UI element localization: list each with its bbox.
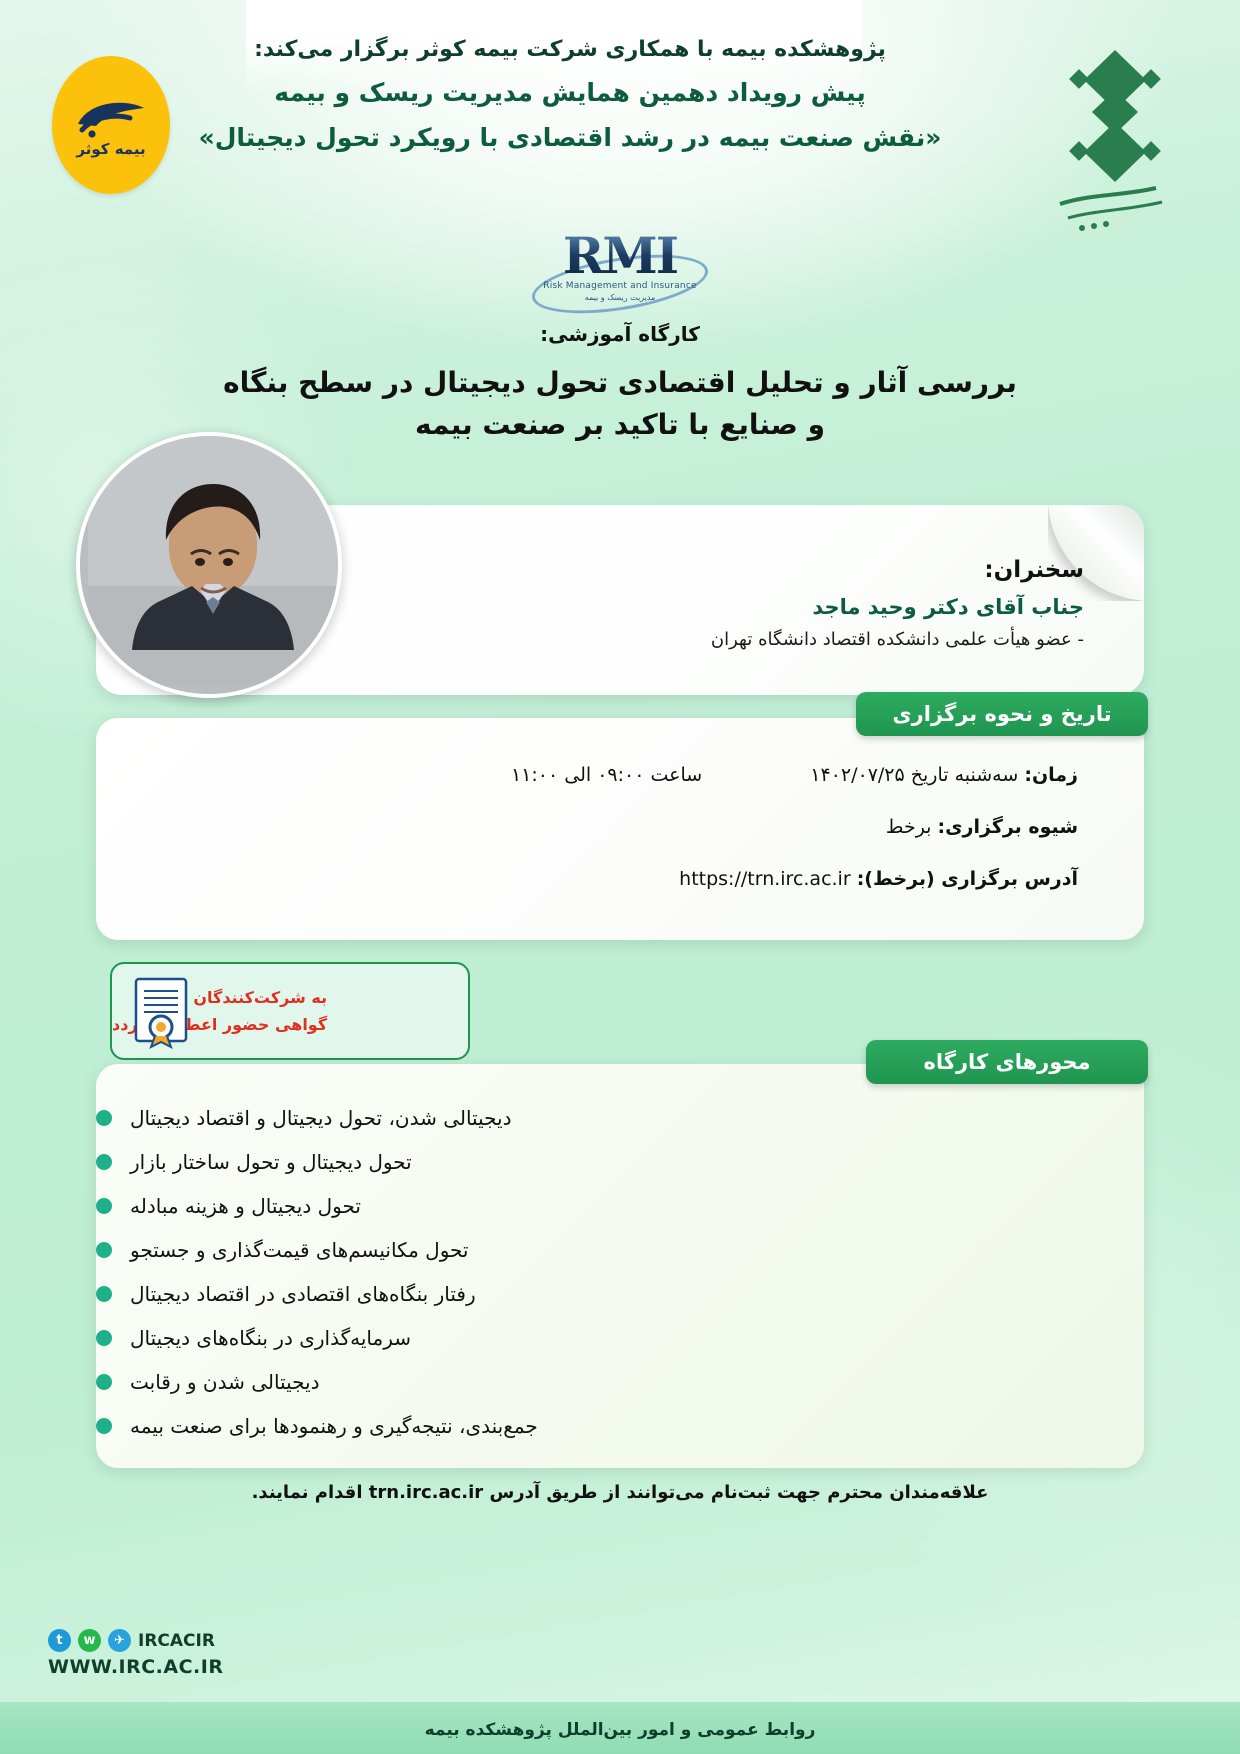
- registration-suffix: اقدام نمایند.: [252, 1482, 363, 1503]
- rmi-wordmark: RMI: [563, 232, 677, 280]
- topic-label: تحول مکانیسم‌های قیمت‌گذاری و جستجو: [130, 1238, 469, 1262]
- whatsapp-icon[interactable]: w: [78, 1629, 101, 1652]
- rmi-persian-subtitle: مدیریت ریسک و بیمه: [585, 293, 656, 302]
- mode-label: شیوه برگزاری:: [938, 816, 1078, 838]
- social-row: t w ✈ IRCACIR: [48, 1629, 223, 1652]
- topic-label: رفتار بنگاه‌های اقتصادی در اقتصاد دیجیتا…: [130, 1282, 476, 1306]
- topic-label: تحول دیجیتال و هزینه مبادله: [130, 1194, 361, 1218]
- topic-label: دیجیتالی شدن و رقابت: [130, 1370, 320, 1394]
- address-url[interactable]: https://trn.irc.ac.ir: [679, 868, 851, 890]
- topic-item: رفتار بنگاه‌های اقتصادی در اقتصاد دیجیتا…: [96, 1282, 1084, 1306]
- certificate-notice-box: به شرکت‌کنندگان گواهی حضور اعطا می‌گردد: [110, 962, 470, 1060]
- bullet-dot-icon: [96, 1286, 112, 1302]
- topic-label: جمع‌بندی، نتیجه‌گیری و رهنمودها برای صنع…: [130, 1414, 538, 1438]
- bullet-dot-icon: [96, 1330, 112, 1346]
- topic-item: تحول دیجیتال و هزینه مبادله: [96, 1194, 1084, 1218]
- date-details-card: زمان: سه‌شنبه تاریخ ۱۴۰۲/۰۷/۲۵ ساعت ۰۹:۰…: [96, 718, 1144, 940]
- mode-row: شیوه برگزاری: برخط: [96, 816, 1078, 838]
- speaker-details: سخنران: جناب آقای دکتر وحید ماجد - عضو ه…: [711, 557, 1084, 650]
- bullet-dot-icon: [96, 1154, 112, 1170]
- twitter-icon[interactable]: t: [48, 1629, 71, 1652]
- workshop-kicker: کارگاه آموزشی:: [0, 322, 1240, 346]
- rmi-subtitle: Risk Management and Insurance: [543, 281, 696, 291]
- header-text-block: پژوهشکده بیمه با همکاری شرکت بیمه کوثر ب…: [190, 34, 950, 158]
- topics-section-chip: محورهای کارگاه: [866, 1040, 1148, 1084]
- clock-value: ساعت ۰۹:۰۰ الی ۱۱:۰۰: [511, 764, 702, 786]
- kowsar-logo-label: بیمه کوثر: [76, 142, 145, 157]
- date-section-chip: تاریخ و نحوه برگزاری: [856, 692, 1148, 736]
- bullet-dot-icon: [96, 1374, 112, 1390]
- certificate-icon: [130, 977, 192, 1049]
- website-url[interactable]: WWW.IRC.AC.IR: [48, 1656, 223, 1678]
- topic-label: دیجیتالی شدن، تحول دیجیتال و اقتصاد دیجی…: [130, 1106, 512, 1130]
- speaker-label: سخنران:: [711, 557, 1084, 583]
- time-row: زمان: سه‌شنبه تاریخ ۱۴۰۲/۰۷/۲۵ ساعت ۰۹:۰…: [96, 764, 1078, 786]
- registration-note: علاقه‌مندان محترم جهت ثبت‌نام می‌توانند …: [0, 1482, 1240, 1503]
- social-handle: IRCACIR: [138, 1631, 215, 1651]
- bullet-dot-icon: [96, 1110, 112, 1126]
- topic-item: تحول دیجیتال و تحول ساختار بازار: [96, 1150, 1084, 1174]
- kowsar-insurance-logo: بیمه کوثر: [52, 56, 170, 194]
- header-line-1: پژوهشکده بیمه با همکاری شرکت بیمه کوثر ب…: [190, 34, 950, 66]
- speaker-avatar: [76, 432, 342, 698]
- address-label: آدرس برگزاری (برخط):: [857, 868, 1078, 890]
- bullet-dot-icon: [96, 1242, 112, 1258]
- mode-value: برخط: [886, 816, 932, 838]
- bullet-dot-icon: [96, 1198, 112, 1214]
- social-block: t w ✈ IRCACIR WWW.IRC.AC.IR: [48, 1629, 223, 1678]
- kowsar-mark-icon: [72, 94, 150, 140]
- header-line-2: پیش رویداد دهمین همایش مدیریت ریسک و بیم…: [190, 72, 950, 113]
- irc-research-institute-logo: [1030, 44, 1200, 244]
- topic-label: تحول دیجیتال و تحول ساختار بازار: [130, 1150, 412, 1174]
- footer-text: روابط عمومی و امور بین‌الملل پژوهشکده بی…: [0, 1720, 1240, 1740]
- poster-canvas: بیمه کوثر پژ: [0, 0, 1240, 1754]
- topic-item: سرمایه‌گذاری در بنگاه‌های دیجیتال: [96, 1326, 1084, 1350]
- registration-prefix: علاقه‌مندان محترم جهت ثبت‌نام می‌توانند …: [489, 1482, 988, 1503]
- telegram-icon[interactable]: ✈: [108, 1629, 131, 1652]
- topic-item: دیجیتالی شدن و رقابت: [96, 1370, 1084, 1394]
- topic-item: جمع‌بندی، نتیجه‌گیری و رهنمودها برای صنع…: [96, 1414, 1084, 1438]
- workshop-title-block: کارگاه آموزشی: بررسی آثار و تحلیل اقتصاد…: [0, 322, 1240, 446]
- bullet-dot-icon: [96, 1418, 112, 1434]
- topic-item: دیجیتالی شدن، تحول دیجیتال و اقتصاد دیجی…: [96, 1106, 1084, 1130]
- rmi-logo: RMI Risk Management and Insurance مدیریت…: [0, 228, 1240, 306]
- time-value: سه‌شنبه تاریخ ۱۴۰۲/۰۷/۲۵: [810, 764, 1018, 786]
- topics-card: دیجیتالی شدن، تحول دیجیتال و اقتصاد دیجی…: [96, 1064, 1144, 1468]
- speaker-affiliation: - عضو هیأت علمی دانشکده اقتصاد دانشگاه ت…: [711, 629, 1084, 650]
- speaker-name: جناب آقای دکتر وحید ماجد: [711, 595, 1084, 619]
- topic-item: تحول مکانیسم‌های قیمت‌گذاری و جستجو: [96, 1238, 1084, 1262]
- header-line-3: «نقش صنعت بیمه در رشد اقتصادی با رویکرد …: [190, 117, 950, 158]
- address-row: آدرس برگزاری (برخط): https://trn.irc.ac.…: [96, 868, 1078, 890]
- topic-label: سرمایه‌گذاری در بنگاه‌های دیجیتال: [130, 1326, 411, 1350]
- workshop-title-line-1: بررسی آثار و تحلیل اقتصادی تحول دیجیتال …: [0, 362, 1240, 404]
- registration-url[interactable]: trn.irc.ac.ir: [369, 1482, 483, 1503]
- time-label: زمان:: [1024, 764, 1078, 786]
